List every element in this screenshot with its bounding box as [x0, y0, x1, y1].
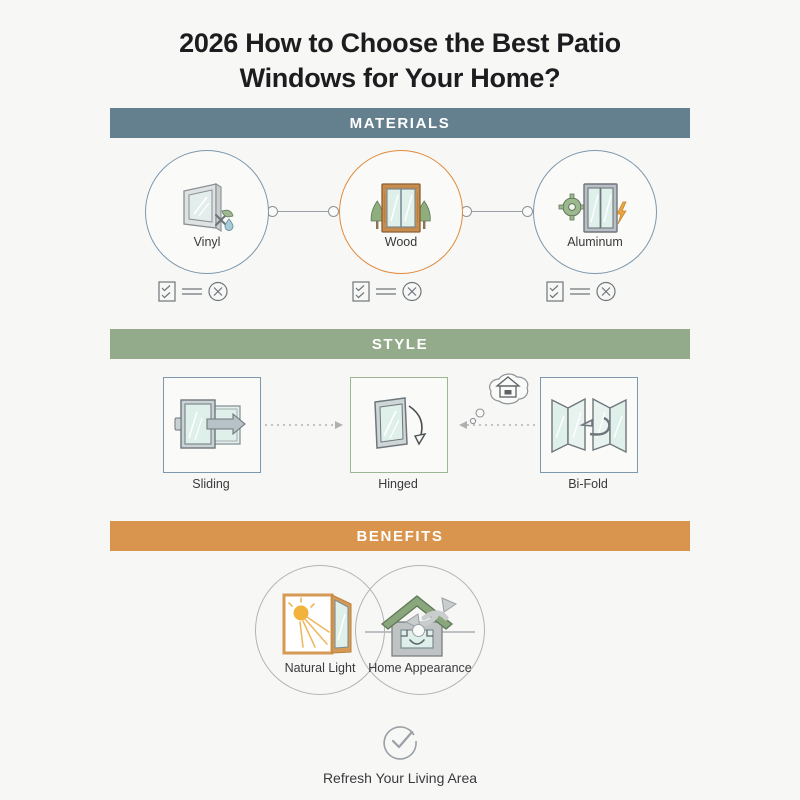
open-window-sun-icon: [281, 592, 359, 658]
checklist-icon: [353, 282, 369, 301]
hinged-window-icon: [361, 394, 437, 456]
sliding-window-icon: [173, 394, 251, 456]
style-item-sliding[interactable]: [163, 377, 261, 473]
material-checklist-wood: [352, 280, 442, 302]
page-title-line2: Windows for Your Home?: [100, 61, 700, 96]
style-label-bifold: Bi-Fold: [540, 477, 636, 491]
benefits-row: Natural Light Home Appearance: [110, 565, 690, 695]
material-item-wood[interactable]: Wood: [339, 150, 463, 274]
material-label-wood: Wood: [340, 235, 462, 249]
circle-x-icon: [209, 283, 227, 301]
materials-connector-2: [461, 206, 533, 218]
style-arrow-right: [265, 419, 347, 431]
section-header-materials: MATERIALS: [110, 108, 690, 138]
aluminum-window-icon: [561, 181, 629, 237]
gear-icon: [559, 194, 585, 220]
style-row: Sliding Hinged Bi-Fold: [110, 377, 690, 492]
page-title-line1: 2026 How to Choose the Best Patio: [100, 26, 700, 61]
material-item-aluminum[interactable]: Aluminum: [533, 150, 657, 274]
infographic-canvas: 2026 How to Choose the Best Patio Window…: [0, 0, 800, 800]
benefits-center-node-icon: [412, 624, 425, 637]
house-thought-bubble-icon: [465, 365, 537, 427]
style-item-hinged[interactable]: [350, 377, 448, 473]
vinyl-window-icon: [176, 181, 238, 235]
checklist-icon: [547, 282, 563, 301]
footer: Refresh Your Living Area: [0, 722, 800, 786]
dash-lines-icon: [376, 289, 396, 294]
section-header-benefits-label: BENEFITS: [357, 528, 444, 545]
wood-window-icon: [369, 181, 433, 237]
dash-lines-icon: [182, 289, 202, 294]
style-item-bifold[interactable]: [540, 377, 638, 473]
material-label-aluminum: Aluminum: [534, 235, 656, 249]
circle-x-icon: [403, 283, 421, 301]
section-header-materials-label: MATERIALS: [350, 115, 451, 132]
section-header-style-label: STYLE: [372, 336, 428, 353]
section-header-style: STYLE: [110, 329, 690, 359]
footer-label: Refresh Your Living Area: [0, 770, 800, 786]
page-title: 2026 How to Choose the Best Patio Window…: [100, 26, 700, 95]
materials-connector-1: [267, 206, 339, 218]
dash-lines-icon: [570, 289, 590, 294]
material-checklist-aluminum: [546, 280, 636, 302]
material-checklist-vinyl: [158, 280, 248, 302]
material-item-vinyl[interactable]: Vinyl: [145, 150, 269, 274]
material-label-vinyl: Vinyl: [146, 235, 268, 249]
connector-node-icon: [522, 206, 533, 217]
style-label-sliding: Sliding: [163, 477, 259, 491]
check-circle-icon: [381, 722, 419, 760]
section-header-benefits: BENEFITS: [110, 521, 690, 551]
bifold-window-icon: [548, 394, 630, 456]
materials-row: Vinyl: [110, 150, 690, 275]
benefit-label-home-appearance: Home Appearance: [355, 661, 485, 675]
circle-x-icon: [597, 283, 615, 301]
style-label-hinged: Hinged: [350, 477, 446, 491]
connector-node-icon: [328, 206, 339, 217]
checklist-icon: [159, 282, 175, 301]
